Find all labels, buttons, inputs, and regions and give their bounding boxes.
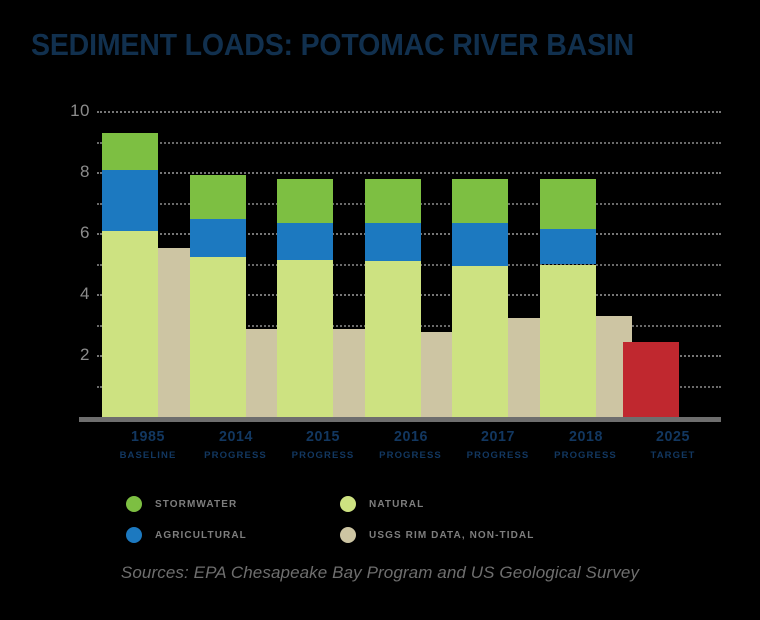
- bar-stacked-2017: [452, 0, 508, 417]
- bar-segment-1985-stormwater: [102, 133, 158, 170]
- bar-segment-2015-natural: [277, 260, 333, 417]
- bar-segment-2017-stormwater: [452, 179, 508, 223]
- legend-label: NATURAL: [369, 499, 424, 510]
- legend-label: USGS RIM DATA, NON-TIDAL: [369, 530, 534, 541]
- bar-segment-2016-agricultural: [365, 223, 421, 261]
- y-tick-label-4: 4: [56, 284, 90, 304]
- bar-stacked-2014: [190, 0, 246, 417]
- x-axis-baseline: [79, 417, 721, 422]
- bar-stacked-2015: [277, 0, 333, 417]
- sources-footer: Sources: EPA Chesapeake Bay Program and …: [0, 563, 760, 583]
- legend-item-agricultural[interactable]: AGRICULTURAL: [126, 527, 247, 543]
- circle-swatch-icon: [126, 527, 142, 543]
- legend-item-stormwater[interactable]: STORMWATER: [126, 496, 237, 512]
- circle-swatch-icon: [340, 496, 356, 512]
- bar-segment-2014-natural: [190, 257, 246, 417]
- bar-stacked-2016: [365, 0, 421, 417]
- y-tick-label-10: 10: [56, 101, 90, 121]
- x-axis-label-2025: 2025TARGET: [611, 428, 735, 461]
- bar-target-2025: [623, 342, 679, 417]
- bar-segment-2015-agricultural: [277, 223, 333, 260]
- bar-stacked-2018: [540, 0, 596, 417]
- legend-item-usgs-rim-data-non-tidal[interactable]: USGS RIM DATA, NON-TIDAL: [340, 527, 534, 543]
- bar-segment-2014-agricultural: [190, 219, 246, 257]
- y-tick-label-2: 2: [56, 345, 90, 365]
- bar-segment-2018-natural: [540, 265, 596, 418]
- bar-stacked-1985: [102, 0, 158, 417]
- chart-page: SEDIMENT LOADS: POTOMAC RIVER BASIN POUN…: [0, 0, 760, 620]
- x-label-sublabel: TARGET: [611, 450, 735, 461]
- legend-label: STORMWATER: [155, 499, 237, 510]
- bar-segment-2018-stormwater: [540, 179, 596, 229]
- bar-segment-1985-agricultural: [102, 170, 158, 231]
- bar-segment-2014-stormwater: [190, 175, 246, 219]
- circle-swatch-icon: [126, 496, 142, 512]
- x-label-year: 2025: [614, 428, 732, 445]
- bar-segment-2018-agricultural: [540, 229, 596, 264]
- legend-label: AGRICULTURAL: [155, 530, 247, 541]
- bar-segment-2016-natural: [365, 261, 421, 417]
- bar-segment-2017-agricultural: [452, 223, 508, 266]
- bar-segment-1985-natural: [102, 231, 158, 417]
- bar-segment-2017-natural: [452, 266, 508, 417]
- y-tick-label-8: 8: [56, 162, 90, 182]
- bar-segment-2015-stormwater: [277, 179, 333, 223]
- bar-segment-2016-stormwater: [365, 179, 421, 223]
- legend-item-natural[interactable]: NATURAL: [340, 496, 424, 512]
- circle-swatch-icon: [340, 527, 356, 543]
- y-tick-label-6: 6: [56, 223, 90, 243]
